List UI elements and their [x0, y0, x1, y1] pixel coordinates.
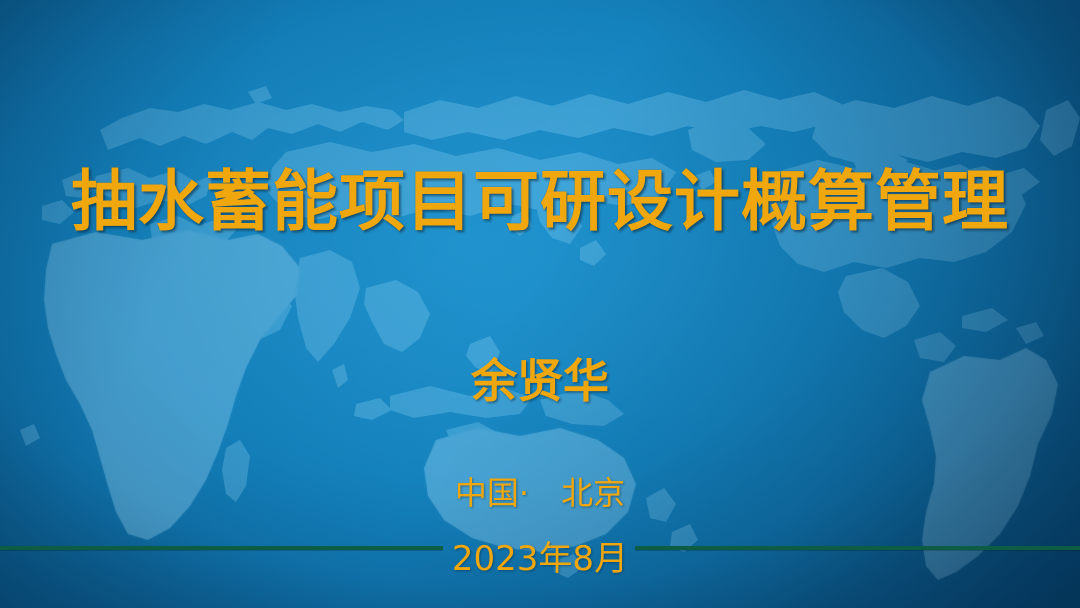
slide-title: 抽水蓄能项目可研设计概算管理: [0, 166, 1080, 237]
location-text: 中国· 北京: [0, 468, 1080, 514]
author-name: 余贤华: [0, 345, 1080, 411]
date-text: 2023年8月: [0, 531, 1080, 580]
text-block: 抽水蓄能项目可研设计概算管理 余贤华 中国· 北京 2023年8月: [0, 0, 1080, 608]
title-slide: 抽水蓄能项目可研设计概算管理 余贤华 中国· 北京 2023年8月: [0, 0, 1080, 608]
